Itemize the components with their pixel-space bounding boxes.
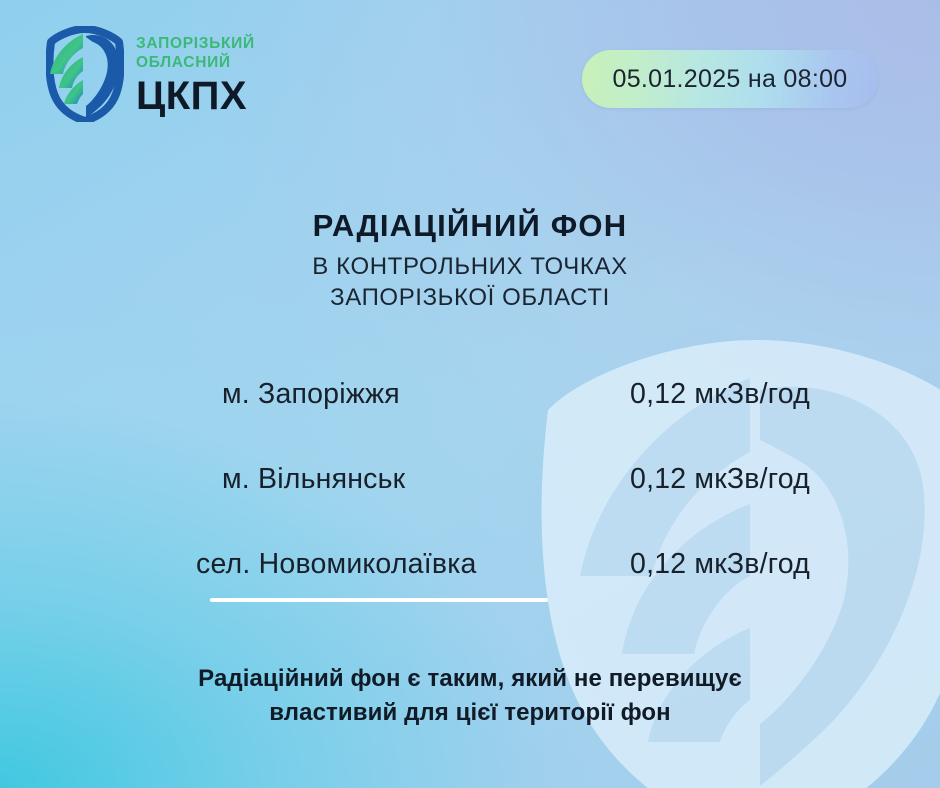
brand-logo: ЗАПОРІЗЬКИЙ ОБЛАСНИЙ ЦКПХ [46,26,255,122]
measurement-location: м. Вільнянськ [222,463,405,496]
measurement-location: м. Запоріжжя [222,378,400,411]
table-row: м. Вільнянськ 0,12 мкЗв/год [196,463,810,548]
footnote-block: Радіаційний фон є таким, який не перевищ… [0,662,940,730]
date-time-badge: 05.01.2025 на 08:00 [582,50,878,108]
table-row: сел. Новомиколаївка 0,12 мкЗв/год [196,548,810,633]
page-title: РАДІАЦІЙНИЙ ФОН [0,208,940,245]
date-time-text: 05.01.2025 на 08:00 [613,65,848,94]
page-subtitle-line-1: В КОНТРОЛЬНИХ ТОЧКАХ [0,251,940,282]
measurement-value: 0,12 мкЗв/год [630,378,810,411]
page-subtitle-line-2: ЗАПОРІЗЬКОЇ ОБЛАСТІ [0,282,940,313]
measurement-value: 0,12 мкЗв/год [630,463,810,496]
table-row: м. Запоріжжя 0,12 мкЗв/год [196,378,810,463]
measurements-table: м. Запоріжжя 0,12 мкЗв/год м. Вільнянськ… [196,378,810,633]
poster-canvas: ЗАПОРІЗЬКИЙ ОБЛАСНИЙ ЦКПХ 05.01.2025 на … [0,0,940,788]
footnote-line-2: властивий для цієї території фон [0,696,940,730]
logo-line-2: ОБЛАСНИЙ [136,53,255,72]
logo-abbreviation: ЦКПХ [136,75,255,117]
title-block: РАДІАЦІЙНИЙ ФОН В КОНТРОЛЬНИХ ТОЧКАХ ЗАП… [0,208,940,313]
measurement-location: сел. Новомиколаївка [196,548,477,581]
page-subtitle: В КОНТРОЛЬНИХ ТОЧКАХ ЗАПОРІЗЬКОЇ ОБЛАСТІ [0,251,940,313]
shield-heart-icon [46,26,124,122]
footnote-line-1: Радіаційний фон є таким, який не перевищ… [0,662,940,696]
section-divider [210,598,548,602]
measurement-value: 0,12 мкЗв/год [630,548,810,581]
logo-line-1: ЗАПОРІЗЬКИЙ [136,34,255,53]
